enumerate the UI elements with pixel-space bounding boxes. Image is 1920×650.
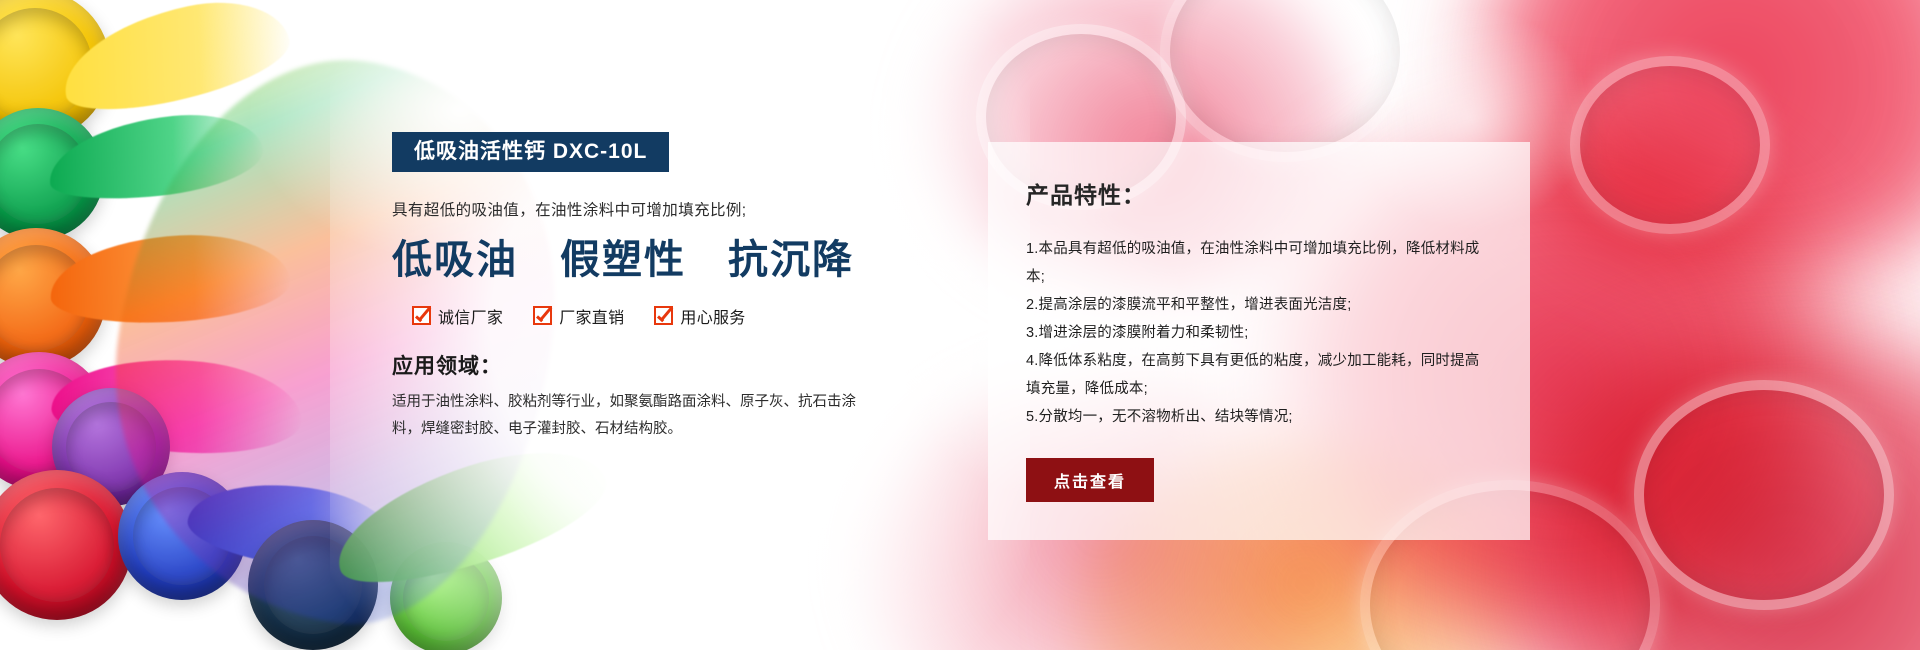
check-box-icon [654,306,673,325]
feature-label: 厂家直销 [559,304,624,328]
application-heading: 应用领域： [392,350,912,380]
background-artwork [0,0,1920,650]
product-subtitle: 具有超低的吸油值，在油性涂料中可增加填充比例; [392,200,912,222]
left-copy-block: 低吸油活性钙 DXC-10L 具有超低的吸油值，在油性涂料中可增加填充比例; 低… [392,132,912,442]
feature-label: 诚信厂家 [438,304,503,328]
feature-list: 1.本品具有超低的吸油值，在油性涂料中可增加填充比例，降低材料成本; 2.提高涂… [1026,236,1492,432]
check-box-icon [412,306,431,325]
panel-title: 产品特性： [1026,176,1492,210]
feature-list-item-4: 4.降低体系粘度，在高剪下具有更低的粘度，减少加工能耗，同时提高填充量，降低成本… [1026,348,1492,404]
application-body: 适用于油性涂料、胶粘剂等行业，如聚氨酯路面涂料、原子灰、抗石击涂料，焊缝密封胶、… [392,389,862,443]
product-features-panel: 产品特性： 1.本品具有超低的吸油值，在油性涂料中可增加填充比例，降低材料成本;… [988,142,1530,540]
check-box-icon [533,306,552,325]
feature-factory-direct-sales: 厂家直销 [533,304,624,328]
feature-list-item-5: 5.分散均一，无不溶物析出、结块等情况; [1026,404,1492,432]
product-title-badge: 低吸油活性钙 DXC-10L [392,132,669,172]
view-details-button[interactable]: 点击查看 [1026,458,1154,502]
liquid-ring-3 [1570,56,1770,234]
feature-honest-manufacturer: 诚信厂家 [412,304,503,328]
keyword-low-oil-absorption: 低吸油 [392,238,518,282]
feature-list-item-2: 2.提高涂层的漆膜流平和平整性，增进表面光洁度; [1026,292,1492,320]
feature-attentive-service: 用心服务 [654,304,745,328]
keyword-anti-settling: 抗沉降 [728,238,854,282]
product-banner: 低吸油活性钙 DXC-10L 具有超低的吸油值，在油性涂料中可增加填充比例; 低… [0,0,1920,650]
feature-label: 用心服务 [680,304,745,328]
keyword-pseudoplasticity: 假塑性 [560,238,686,282]
feature-badge-row: 诚信厂家 厂家直销 用心服务 [392,304,912,328]
feature-list-item-3: 3.增进涂层的漆膜附着力和柔韧性; [1026,320,1492,348]
feature-list-item-1: 1.本品具有超低的吸油值，在油性涂料中可增加填充比例，降低材料成本; [1026,236,1492,292]
liquid-ring-4 [1634,380,1894,610]
keyword-row: 低吸油 假塑性 抗沉降 [392,238,912,282]
